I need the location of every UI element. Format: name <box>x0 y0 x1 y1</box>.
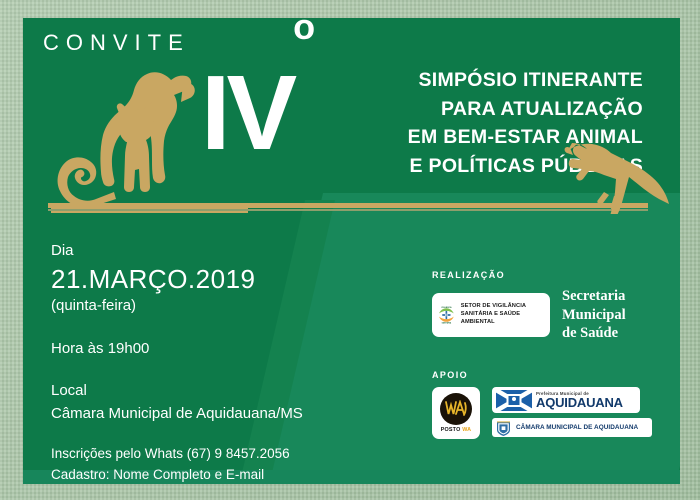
secretaria-municipal-saude-label: Secretaria Municipal de Saúde <box>562 287 626 343</box>
posto-wa-monogram-icon <box>440 393 472 425</box>
event-place: Câmara Municipal de Aquidauana/MS <box>51 402 303 425</box>
parrot-silhouette-icon <box>563 136 680 214</box>
camara-brasao-icon <box>496 419 511 436</box>
camara-municipal-logo-card: CÂMARA MUNICIPAL DE AQUIDAUANA <box>492 418 652 437</box>
posto-wa-label: POSTO WA <box>441 427 472 433</box>
registration-note-2: Cadastro: Nome Completo e E-mail <box>51 465 303 484</box>
day-label: Dia <box>51 240 303 263</box>
gold-divider-rule <box>48 203 648 208</box>
vigilancia-sanitaria-emblem-icon: VIGILÂNCIA SANITÁRIA <box>437 297 456 333</box>
event-details: Dia 21.MARÇO.2019 (quinta-feira) Hora às… <box>51 240 303 484</box>
title-line-2: PARA ATUALIZAÇÃO <box>313 95 643 124</box>
title-line-1: SIMPÓSIO ITINERANTE <box>313 66 643 95</box>
vigilancia-logo-text: SETOR DE VIGILÂNCIA SANITÁRIA E SAÚDE AM… <box>461 303 545 327</box>
gold-divider-rule-thin <box>48 209 648 211</box>
realizacao-section: REALIZAÇÃO VIGILÂNCIA SANITÁRIA <box>432 270 626 343</box>
prefeitura-title: AQUIDAUANA <box>536 396 623 409</box>
camara-label: CÂMARA MUNICIPAL DE AQUIDAUANA <box>516 424 638 431</box>
event-invitation-poster: CONVITE IVo SIMPÓSIO ITINERANTE PARA ATU… <box>0 0 700 500</box>
apoio-section: APOIO POSTO WA <box>432 370 652 439</box>
registration-note-1: Inscrições pelo Whats (67) 9 8457.2056 <box>51 444 303 465</box>
svg-text:VIGILÂNCIA: VIGILÂNCIA <box>441 306 452 309</box>
secretaria-line-2: Municipal <box>562 306 626 325</box>
kicker-convite: CONVITE <box>43 30 190 56</box>
vigilancia-sanitaria-logo-card: VIGILÂNCIA SANITÁRIA SETOR DE VIGILÂNCIA… <box>432 293 550 337</box>
aquidauana-flag-icon <box>496 390 532 411</box>
apoio-title: APOIO <box>432 370 652 380</box>
poster-inner-panel: CONVITE IVo SIMPÓSIO ITINERANTE PARA ATU… <box>23 18 680 484</box>
edition-numeral: IVo <box>201 60 315 166</box>
event-date: 21.MARÇO.2019 <box>51 263 303 296</box>
wa-monogram-glyph-icon <box>444 400 468 418</box>
posto-wa-logo-card: POSTO WA <box>432 387 480 439</box>
prefeitura-aquidauana-logo-card: Prefeitura Municipal de AQUIDAUANA <box>492 387 640 413</box>
place-label: Local <box>51 379 303 402</box>
secretaria-line-1: Secretaria <box>562 287 626 306</box>
realizacao-title: REALIZAÇÃO <box>432 270 626 280</box>
event-time: Hora às 19h00 <box>51 337 303 360</box>
event-weekday: (quinta-feira) <box>51 295 303 318</box>
svg-text:SANITÁRIA: SANITÁRIA <box>442 321 452 324</box>
secretaria-line-3: de Saúde <box>562 324 626 343</box>
